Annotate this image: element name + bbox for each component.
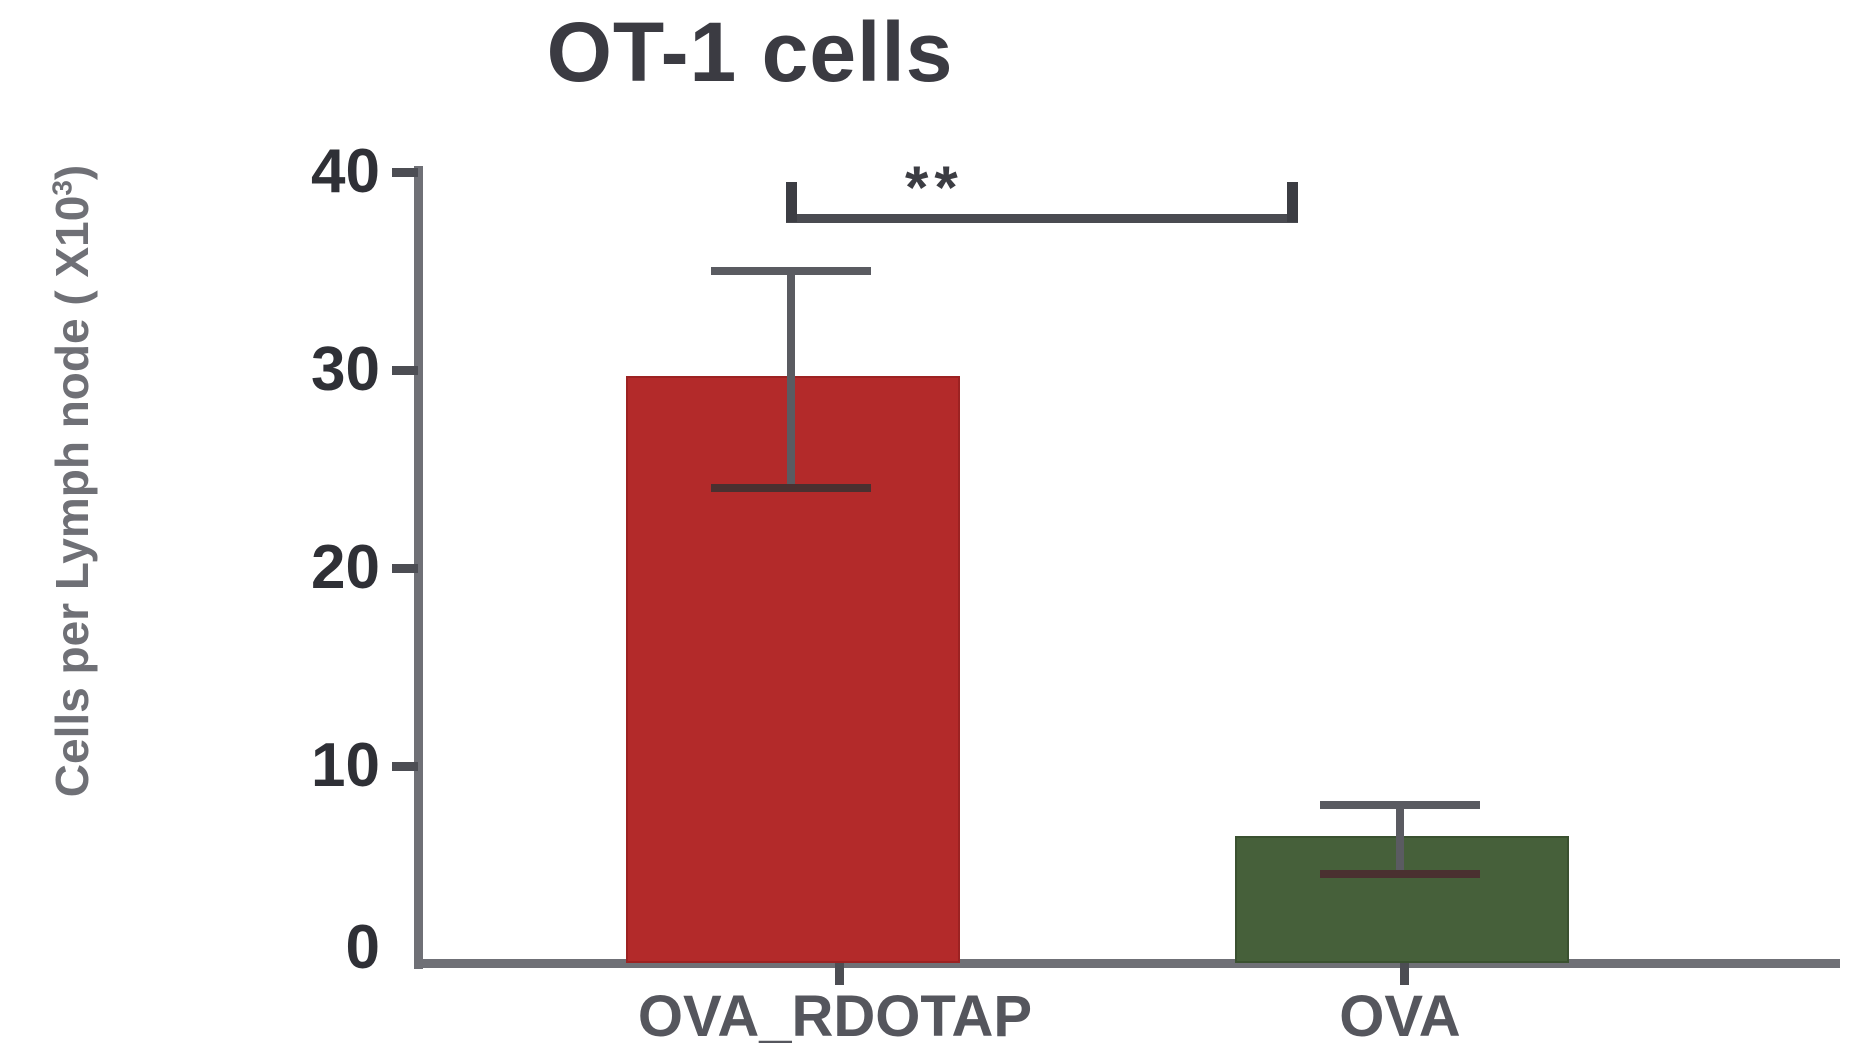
- y-axis-title-exponent: 3: [47, 180, 78, 196]
- y-tick-mark-10: [392, 762, 418, 771]
- y-axis-title-suffix: ): [46, 165, 98, 180]
- x-tick-label-ova-rdotap: OVA_RDOTAP: [455, 983, 1215, 1050]
- significance-bracket-tick-left: [786, 182, 797, 222]
- errorbar-cap-lower-ova-rdotap: [711, 484, 871, 492]
- errorbar-cap-lower-ova: [1320, 870, 1480, 878]
- x-tick-label-ova: OVA: [1190, 983, 1610, 1050]
- errorbar-cap-upper-ova-rdotap: [711, 267, 871, 275]
- y-tick-label-0: 0: [220, 917, 380, 979]
- y-axis-tick-labels: 40 30 20 10 0: [200, 0, 380, 1045]
- significance-stars-label: **: [905, 168, 1205, 208]
- y-tick-label-40: 40: [220, 141, 380, 203]
- plot-area: [420, 172, 1840, 963]
- errorbar-cap-upper-ova: [1320, 801, 1480, 809]
- y-tick-mark-30: [392, 366, 418, 375]
- errorbar-stem-ova: [1396, 805, 1404, 874]
- y-tick-mark-20: [392, 564, 418, 573]
- y-tick-label-30: 30: [220, 339, 380, 401]
- y-tick-label-20: 20: [220, 537, 380, 599]
- errorbar-stem-ova-rdotap: [787, 271, 795, 488]
- significance-bracket-tick-right: [1287, 182, 1298, 222]
- y-tick-mark-40: [392, 168, 418, 177]
- significance-bracket-line: [786, 214, 1298, 223]
- chart-figure: OT-1 cells Cells per Lymph node ( X103) …: [0, 0, 1856, 1045]
- y-tick-label-10: 10: [220, 735, 380, 797]
- y-axis-title-text: Cells per Lymph node ( X10: [46, 196, 98, 798]
- y-axis-title: Cells per Lymph node ( X103): [45, 161, 99, 801]
